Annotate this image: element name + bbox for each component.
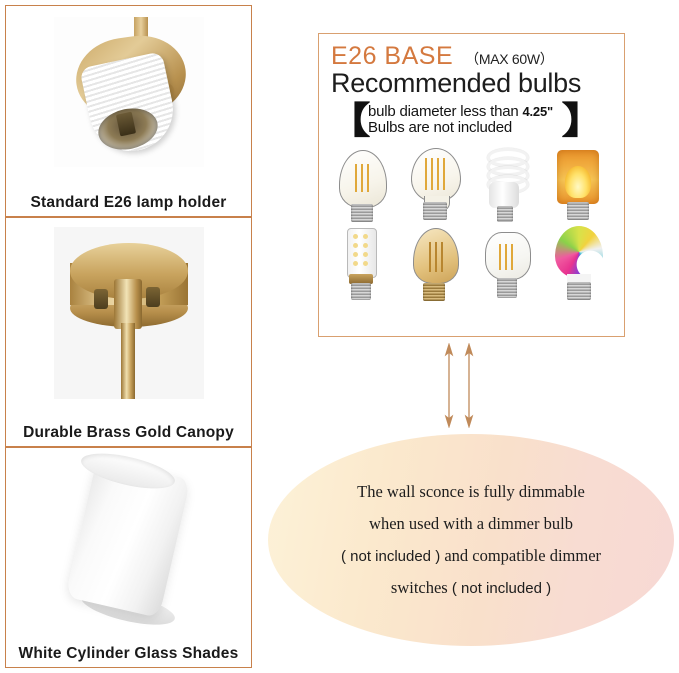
dim-line-4-switches: switches bbox=[391, 578, 452, 597]
e26-base-label: E26 BASE bbox=[331, 42, 453, 71]
canopy-screw-left bbox=[94, 289, 108, 309]
a19-filament-bulb bbox=[399, 144, 471, 226]
e26-screw-base bbox=[351, 204, 373, 222]
e26-screw-base bbox=[423, 283, 445, 301]
bulb-diameter-note: bulb diameter less than 4.25" bbox=[368, 104, 564, 120]
bulb-type-grid bbox=[319, 144, 624, 312]
e26-lamp-holder-photo bbox=[6, 6, 251, 178]
canopy-neck bbox=[114, 279, 142, 329]
dimmable-note-ellipse: The wall sconce is fully dimmable when u… bbox=[268, 434, 674, 646]
e26-screw-base bbox=[351, 283, 371, 300]
panel-caption-lamp-holder: Standard E26 lamp holder bbox=[6, 194, 251, 212]
e26-screw-base bbox=[567, 282, 591, 300]
recommended-bulbs-title: Recommended bulbs bbox=[331, 68, 624, 99]
double-headed-arrows bbox=[437, 343, 483, 428]
e26-screw-base bbox=[423, 202, 447, 220]
panel-caption-canopy: Durable Brass Gold Canopy bbox=[6, 424, 251, 442]
max-wattage-label: （MAX 60W） bbox=[465, 49, 553, 69]
led-corn-tube-bulb bbox=[327, 224, 399, 306]
feature-panel-lamp-holder: Standard E26 lamp holder bbox=[5, 5, 252, 217]
flame-effect-bulb bbox=[543, 144, 615, 226]
e26-screw-base bbox=[497, 278, 517, 298]
dimmable-note-text: The wall sconce is fully dimmable when u… bbox=[306, 476, 636, 605]
dim-line-4-not-included: ( not included ) bbox=[452, 580, 551, 597]
rgb-smart-color-bulb bbox=[543, 224, 615, 306]
cfl-spiral-bulb bbox=[471, 144, 543, 226]
arrows-svg bbox=[437, 343, 483, 428]
dim-line-2: when used with a dimmer bulb bbox=[369, 514, 573, 533]
feature-panel-canopy: Durable Brass Gold Canopy bbox=[5, 217, 252, 447]
bracket-open-glyph: 【 bbox=[324, 104, 370, 138]
st64-edison-filament-bulb bbox=[327, 144, 399, 226]
canopy-screw-right bbox=[146, 287, 160, 307]
bulbs-not-included-note: Bulbs are not included bbox=[368, 120, 564, 136]
feature-panel-glass-shade: White Cylinder Glass Shades bbox=[5, 447, 252, 668]
canopy-stem-rod bbox=[121, 323, 135, 399]
card-header: E26 BASE （MAX 60W） Recommended bulbs bbox=[319, 34, 624, 99]
dim-line-3-not-included: ( not included ) bbox=[341, 548, 440, 565]
e26-screw-base bbox=[567, 202, 589, 220]
dim-line-3-rest: and compatible dimmer bbox=[440, 546, 601, 565]
panel-caption-glass-shade: White Cylinder Glass Shades bbox=[6, 645, 251, 663]
e26-screw-base bbox=[497, 206, 513, 222]
clear-t45-tubular-bulb bbox=[471, 224, 543, 306]
amber-st64-vintage-bulb bbox=[399, 224, 471, 306]
recommended-bulbs-card: E26 BASE （MAX 60W） Recommended bulbs 【 b… bbox=[318, 33, 625, 337]
bracket-close-glyph: 】 bbox=[561, 104, 607, 138]
dim-line-1: The wall sconce is fully dimmable bbox=[357, 482, 585, 501]
white-cylinder-shade-photo bbox=[6, 448, 251, 629]
bulb-note-block: 【 bulb diameter less than 4.25" Bulbs ar… bbox=[329, 104, 603, 138]
bulb-diameter-value: 4.25" bbox=[522, 104, 552, 119]
brass-canopy-photo bbox=[6, 218, 251, 408]
bulb-diameter-text: bulb diameter less than bbox=[368, 103, 522, 120]
